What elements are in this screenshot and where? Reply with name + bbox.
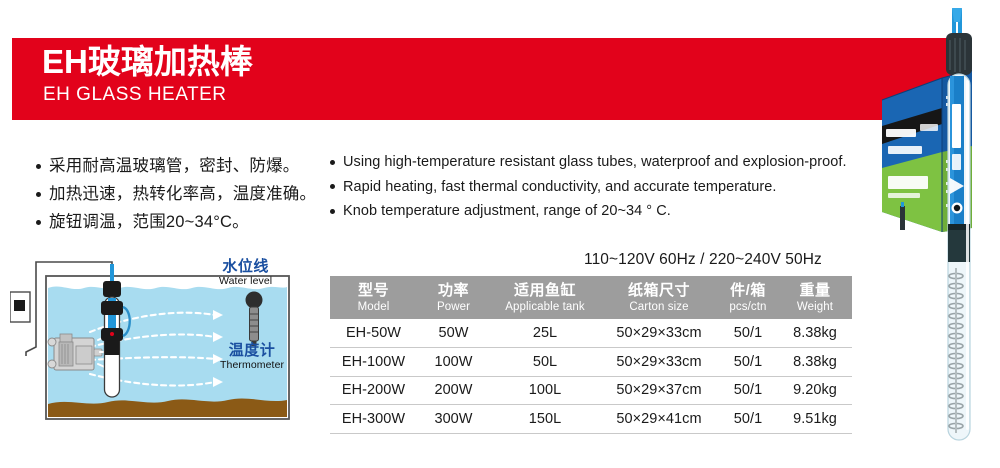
cell-tank: 100L (490, 376, 600, 405)
column-header-power: 功率 Power (417, 276, 490, 319)
cell-pcs: 50/1 (718, 376, 778, 405)
column-header-cn: 型号 (330, 282, 417, 300)
cell-model: EH-50W (330, 319, 417, 348)
column-header-model: 型号 Model (330, 276, 417, 319)
product-photo (880, 0, 1000, 468)
column-header-weight: 重量 Weight (778, 276, 852, 319)
table-row: EH-300W 300W 150L 50×29×41cm 50/1 9.51kg (330, 405, 852, 434)
cell-pcs: 50/1 (718, 348, 778, 377)
feature-item: Rapid heating, fast thermal conductivity… (330, 175, 875, 200)
cell-power: 50W (417, 319, 490, 348)
feature-list-chinese: 采用耐高温玻璃管，密封、防爆。 加热迅速，热转化率高，温度准确。 旋钮调温，范围… (36, 152, 336, 236)
feature-item: 加热迅速，热转化率高，温度准确。 (36, 180, 336, 208)
column-header-en: Weight (778, 300, 852, 314)
cell-pcs: 50/1 (718, 319, 778, 348)
cell-weight: 9.20kg (778, 376, 852, 405)
cell-carton: 50×29×37cm (600, 376, 718, 405)
table-header-row: 型号 Model 功率 Power 适用鱼缸 Applicable tank 纸… (330, 276, 852, 319)
column-header-carton-size: 纸箱尺寸 Carton size (600, 276, 718, 319)
column-header-en: Model (330, 300, 417, 314)
column-header-en: pcs/ctn (718, 300, 778, 314)
column-header-cn: 功率 (417, 282, 490, 300)
column-header-en: Applicable tank (490, 300, 600, 314)
cell-model: EH-200W (330, 376, 417, 405)
page-title-en: EH GLASS HEATER (43, 84, 226, 106)
cell-power: 300W (417, 405, 490, 434)
feature-item: Using high-temperature resistant glass t… (330, 150, 875, 175)
cell-weight: 9.51kg (778, 405, 852, 434)
label-thermometer: 温度计 Thermometer (220, 342, 284, 372)
cell-carton: 50×29×41cm (600, 405, 718, 434)
column-header-cn: 适用鱼缸 (490, 282, 600, 300)
cell-weight: 8.38kg (778, 348, 852, 377)
cell-tank: 150L (490, 405, 600, 434)
table-row: EH-200W 200W 100L 50×29×37cm 50/1 9.20kg (330, 376, 852, 405)
cell-tank: 25L (490, 319, 600, 348)
header-banner: EH玻璃加热棒 EH GLASS HEATER (12, 38, 960, 120)
voltage-note: 110~120V 60Hz / 220~240V 50Hz (584, 251, 822, 269)
cell-carton: 50×29×33cm (600, 348, 718, 377)
feature-list-english: Using high-temperature resistant glass t… (330, 150, 875, 224)
specifications-table: 型号 Model 功率 Power 适用鱼缸 Applicable tank 纸… (330, 276, 852, 434)
cell-weight: 8.38kg (778, 319, 852, 348)
column-header-en: Carton size (600, 300, 718, 314)
column-header-applicable-tank: 适用鱼缸 Applicable tank (490, 276, 600, 319)
cell-carton: 50×29×33cm (600, 319, 718, 348)
table-row: EH-100W 100W 50L 50×29×33cm 50/1 8.38kg (330, 348, 852, 377)
column-header-en: Power (417, 300, 490, 314)
label-thermometer-en: Thermometer (220, 359, 284, 372)
label-thermometer-cn: 温度计 (220, 342, 284, 359)
column-header-cn: 件/箱 (718, 282, 778, 300)
cell-tank: 50L (490, 348, 600, 377)
heater-rod (946, 8, 972, 440)
cell-model: EH-300W (330, 405, 417, 434)
label-water-level-en: Water level (219, 275, 272, 288)
feature-item: 旋钮调温，范围20~34°C。 (36, 208, 336, 236)
label-water-level: 水位线 Water level (219, 258, 272, 288)
cell-model: EH-100W (330, 348, 417, 377)
column-header-pcs-per-carton: 件/箱 pcs/ctn (718, 276, 778, 319)
cell-pcs: 50/1 (718, 405, 778, 434)
page-title-cn: EH玻璃加热棒 (42, 43, 253, 81)
column-header-cn: 纸箱尺寸 (600, 282, 718, 300)
label-water-level-cn: 水位线 (219, 258, 272, 275)
cell-power: 200W (417, 376, 490, 405)
feature-item: 采用耐高温玻璃管，密封、防爆。 (36, 152, 336, 180)
table-row: EH-50W 50W 25L 50×29×33cm 50/1 8.38kg (330, 319, 852, 348)
column-header-cn: 重量 (778, 282, 852, 300)
cell-power: 100W (417, 348, 490, 377)
product-spec-sheet: EH玻璃加热棒 EH GLASS HEATER 采用耐高温玻璃管，密封、防爆。 … (0, 0, 1000, 468)
feature-item: Knob temperature adjustment, range of 20… (330, 199, 875, 224)
